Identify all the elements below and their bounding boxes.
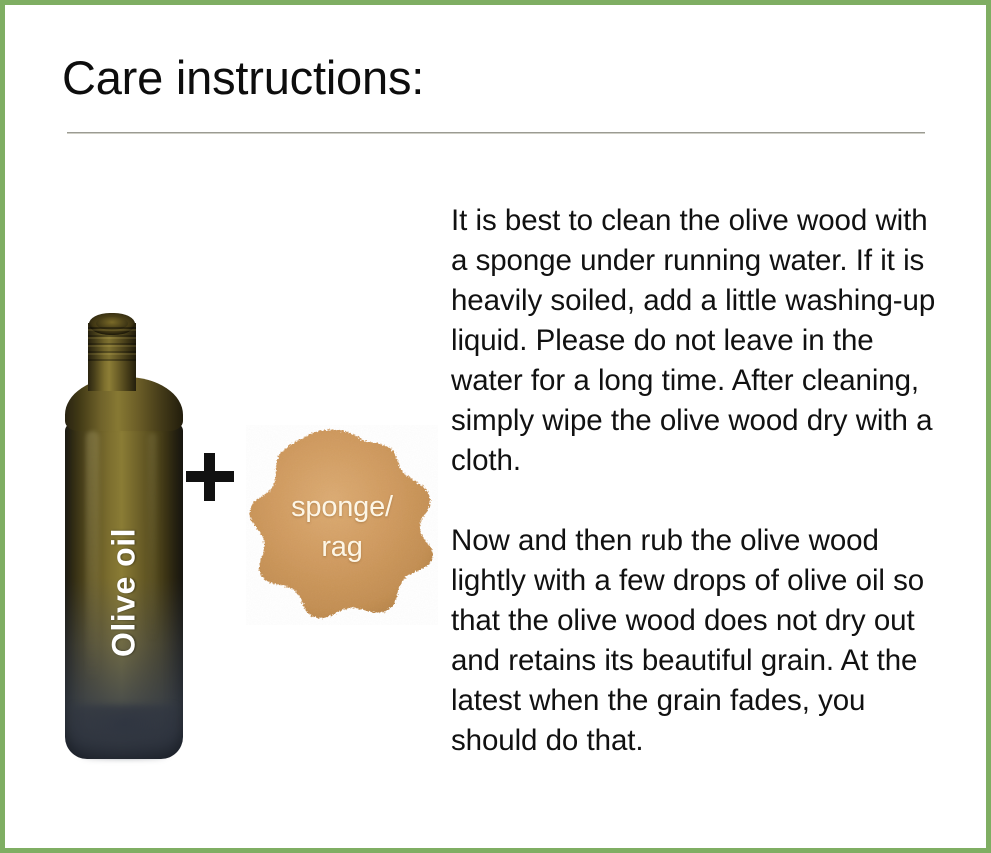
instructions-text-column: It is best to clean the olive wood with … [451, 201, 951, 761]
bottle-highlight [86, 431, 99, 681]
sponge-blob-shape [246, 425, 438, 625]
care-instructions-page: Care instructions: Olive oil [0, 0, 991, 853]
bottle-thread-rings [88, 327, 136, 361]
page-title: Care instructions: [62, 49, 424, 107]
plus-icon-vertical-bar [204, 453, 215, 501]
bottle-label-text: Olive oil [106, 465, 143, 721]
plus-icon [186, 453, 234, 501]
page-canvas: Care instructions: Olive oil [5, 5, 986, 848]
instructions-paragraph-2: Now and then rub the olive wood lightly … [451, 521, 951, 761]
title-divider [67, 132, 925, 134]
sponge-rag-image: sponge/ rag [246, 425, 438, 625]
olive-oil-bottle-image: Olive oil [60, 313, 188, 765]
bottle-highlight-secondary [148, 433, 157, 643]
instructions-paragraph-1: It is best to clean the olive wood with … [451, 201, 951, 481]
